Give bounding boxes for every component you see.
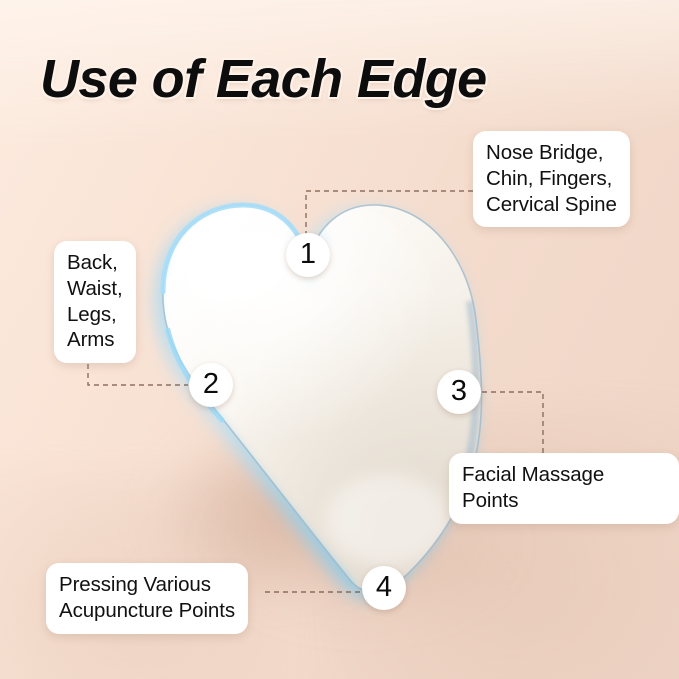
marker-4-label: 4: [376, 573, 392, 602]
infographic-canvas: Nose Bridge, Chin, Fingers, Cervical Spi…: [0, 0, 679, 679]
page-title: Use of Each Edge: [40, 48, 487, 110]
marker-4: 4: [362, 566, 406, 610]
marker-3: 3: [437, 370, 481, 414]
callout-facial-massage: Facial Massage Points: [449, 453, 679, 524]
marker-2: 2: [189, 363, 233, 407]
connector-line-1: [306, 191, 473, 234]
callout-back-waist: Back, Waist, Legs, Arms: [54, 241, 136, 363]
marker-2-label: 2: [203, 370, 219, 399]
marker-1: 1: [286, 233, 330, 277]
marker-1-label: 1: [300, 240, 316, 269]
callout-acupuncture: Pressing Various Acupuncture Points: [46, 563, 248, 634]
connector-line-3: [482, 392, 543, 453]
callout-nose-bridge: Nose Bridge, Chin, Fingers, Cervical Spi…: [473, 131, 630, 227]
marker-3-label: 3: [451, 377, 467, 406]
